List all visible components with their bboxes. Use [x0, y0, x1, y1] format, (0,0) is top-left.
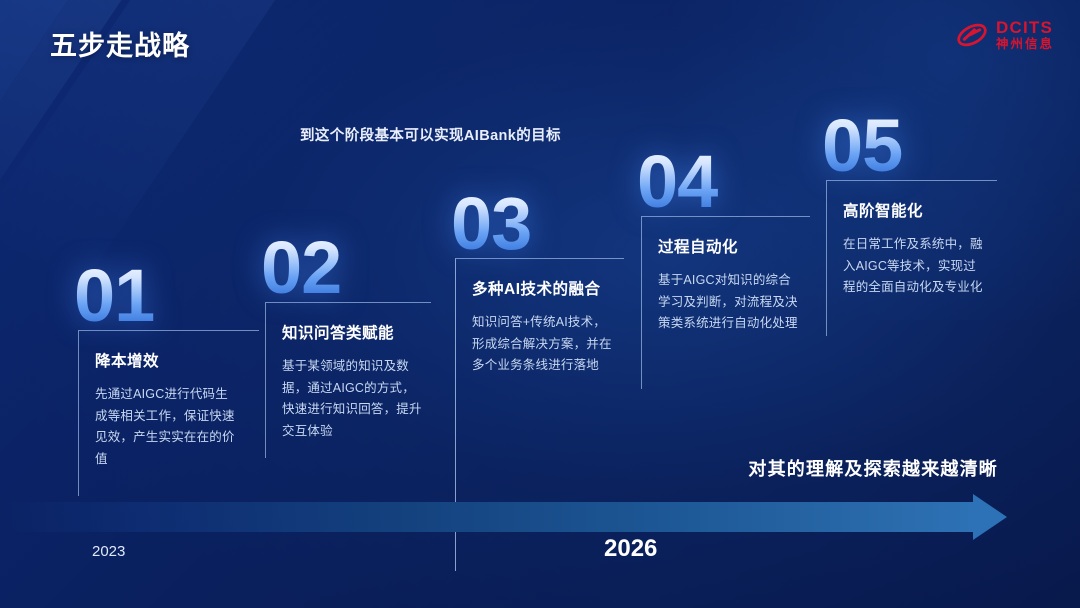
step-item-05[interactable]: 05 高阶智能化 在日常工作及系统中，融入AIGC等技术，实现过程的全面自动化及…	[826, 112, 997, 336]
step-item-02[interactable]: 02 知识问答类赋能 基于某领域的知识及数据，通过AIGC的方式，快速进行知识回…	[265, 234, 431, 458]
timeline-year-start: 2023	[92, 543, 125, 560]
step-item-01[interactable]: 01 降本增效 先通过AIGC进行代码生成等相关工作，保证快速见效，产生实实在在…	[78, 262, 259, 496]
step-heading-01: 降本增效	[95, 349, 249, 371]
step-number-05: 05	[822, 112, 997, 180]
timeline-arrow	[0, 494, 1008, 540]
page-title: 五步走战略	[50, 24, 190, 63]
step-description-02: 基于某领域的知识及数据，通过AIGC的方式，快速进行知识回答，提升交互体验	[282, 356, 422, 442]
step-heading-05: 高阶智能化	[843, 199, 987, 221]
step-frame-02: 知识问答类赋能 基于某领域的知识及数据，通过AIGC的方式，快速进行知识回答，提…	[265, 302, 431, 458]
step-description-05: 在日常工作及系统中，融入AIGC等技术，实现过程的全面自动化及专业化	[843, 234, 983, 299]
timeline-arrow-label: 对其的理解及探索越来越清晰	[748, 455, 998, 481]
step-frame-04: 过程自动化 基于AIGC对知识的综合学习及判断，对流程及决策类系统进行自动化处理	[641, 216, 810, 389]
step-number-04: 04	[637, 148, 810, 216]
logo-text-en: DCITS	[996, 19, 1054, 36]
step-item-04[interactable]: 04 过程自动化 基于AIGC对知识的综合学习及判断，对流程及决策类系统进行自动…	[641, 148, 810, 389]
step-number-01: 01	[74, 262, 259, 330]
step-number-02: 02	[261, 234, 431, 302]
step-heading-04: 过程自动化	[658, 235, 800, 257]
step-description-04: 基于AIGC对知识的综合学习及判断，对流程及决策类系统进行自动化处理	[658, 270, 798, 335]
milestone-annotation: 到这个阶段基本可以实现AIBank的目标	[300, 124, 561, 145]
step-number-03: 03	[451, 190, 624, 258]
step-heading-03: 多种AI技术的融合	[472, 277, 614, 299]
step-frame-05: 高阶智能化 在日常工作及系统中，融入AIGC等技术，实现过程的全面自动化及专业化	[826, 180, 997, 336]
logo-text-cn: 神州信息	[996, 38, 1054, 51]
step-description-01: 先通过AIGC进行代码生成等相关工作，保证快速见效，产生实实在在的价值	[95, 384, 235, 470]
step-heading-02: 知识问答类赋能	[282, 321, 421, 343]
step-frame-01: 降本增效 先通过AIGC进行代码生成等相关工作，保证快速见效，产生实实在在的价值	[78, 330, 259, 496]
timeline-year-end: 2026	[604, 535, 657, 563]
step-description-03: 知识问答+传统AI技术，形成综合解决方案，并在多个业务条线进行落地	[472, 312, 612, 377]
timeline-arrow-head-icon	[973, 494, 1007, 540]
dcits-swoosh-icon	[955, 18, 989, 52]
slide-canvas: 五步走战略 DCITS 神州信息 到这个阶段基本可以实现AIBank的目标 01…	[0, 0, 1080, 608]
brand-logo: DCITS 神州信息	[955, 18, 1054, 52]
timeline-arrow-body	[0, 502, 975, 532]
